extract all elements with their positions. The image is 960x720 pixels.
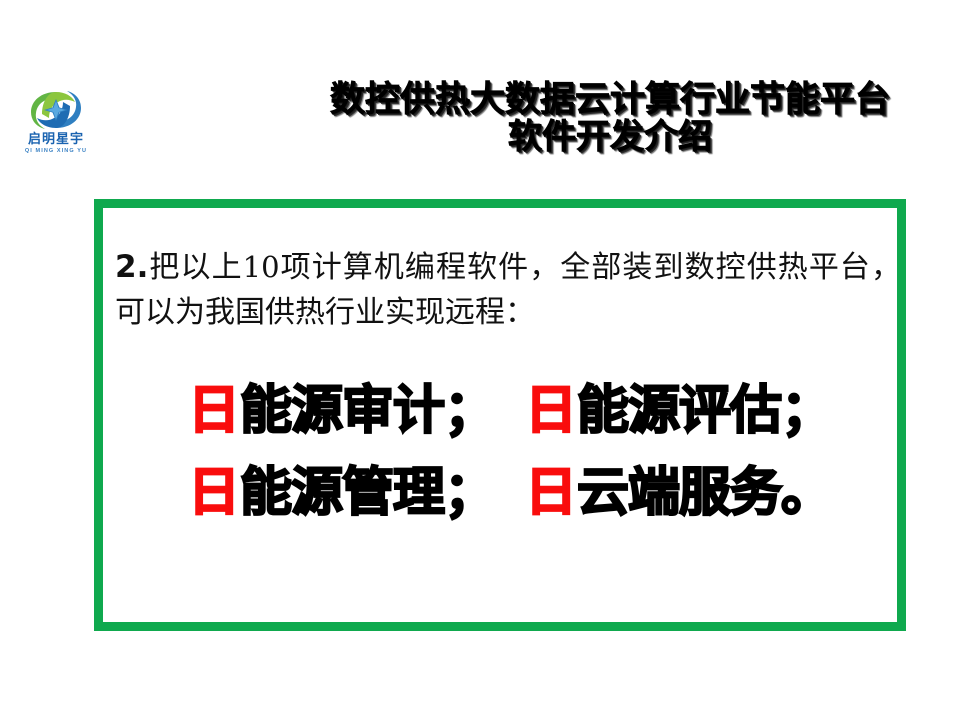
body-paragraph: 2.把以上10项计算机编程软件，全部装到数控供热平台，可以为我国供热行业实现远程…	[115, 245, 901, 335]
paragraph-text-part1: 把以上	[148, 250, 242, 285]
paragraph-number: 2.	[115, 249, 148, 285]
bullet-marker-icon: 日	[525, 452, 577, 534]
slide-title: 数控供热大数据云计算行业节能平台 软件开发介绍	[270, 82, 950, 156]
paragraph-count: 10	[243, 250, 280, 284]
slide-canvas: 启明星宇 QI MING XING YU 数控供热大数据云计算行业节能平台 软件…	[0, 0, 960, 720]
title-line-2: 软件开发介绍	[270, 119, 950, 156]
bullet-label: 能源审计；	[240, 370, 495, 452]
logo-name-en: QI MING XING YU	[14, 147, 98, 155]
bullet-row: 日能源审计；日能源评估；	[188, 370, 888, 452]
bullet-item: 日云端服务。	[525, 452, 832, 534]
bullet-label: 能源管理；	[240, 452, 495, 534]
bullet-item: 日能源管理；	[188, 452, 495, 534]
bullet-row: 日能源管理；日云端服务。	[188, 452, 888, 534]
swirl-star-logo-icon	[25, 88, 87, 132]
bullet-item: 日能源审计；	[188, 370, 495, 452]
logo-name-cn: 启明星宇	[14, 133, 98, 147]
content-box: 2.把以上10项计算机编程软件，全部装到数控供热平台，可以为我国供热行业实现远程…	[94, 199, 906, 631]
bullet-list: 日能源审计；日能源评估； 日能源管理；日云端服务。	[188, 370, 888, 534]
bullet-marker-icon: 日	[188, 452, 240, 534]
bullet-item: 日能源评估；	[525, 370, 832, 452]
bullet-marker-icon: 日	[188, 370, 240, 452]
bullet-label: 云端服务。	[577, 452, 832, 534]
company-logo: 启明星宇 QI MING XING YU	[14, 88, 98, 164]
bullet-label: 能源评估；	[577, 370, 832, 452]
bullet-marker-icon: 日	[525, 370, 577, 452]
title-line-1: 数控供热大数据云计算行业节能平台	[270, 82, 950, 119]
